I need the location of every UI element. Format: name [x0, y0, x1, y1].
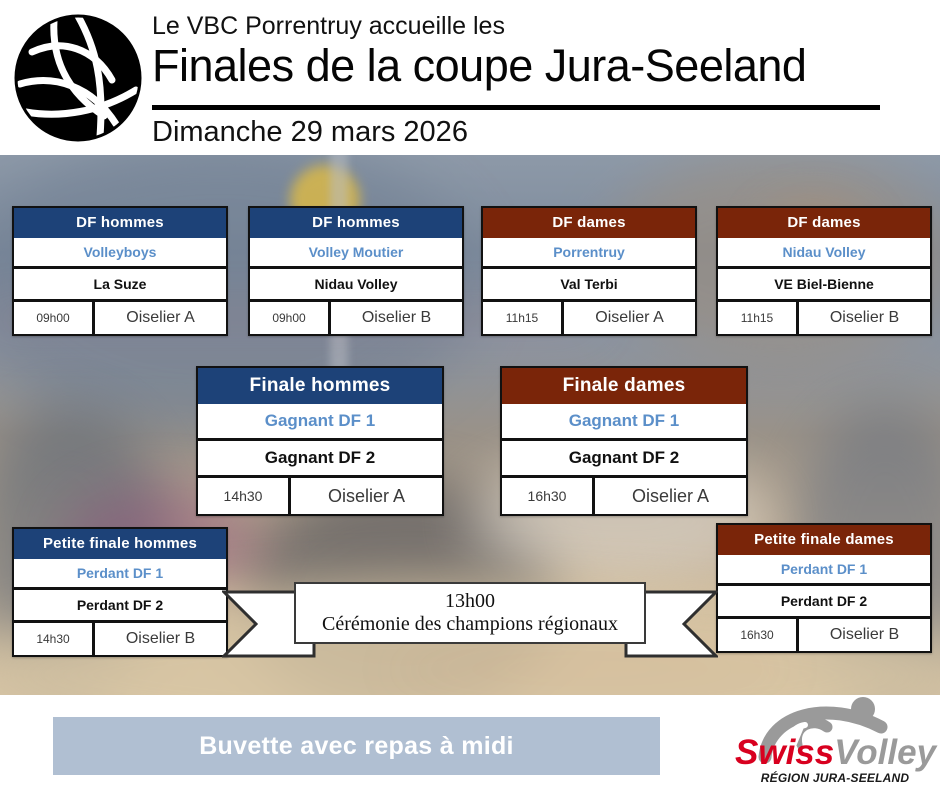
match-time: 09h00	[250, 302, 331, 334]
match-card-df-dames-1[interactable]: DF dames Porrentruy Val Terbi 11h15 Oise…	[481, 206, 697, 336]
match-team-b: Val Terbi	[483, 269, 695, 302]
match-court: Oiselier B	[799, 619, 930, 651]
match-time: 16h30	[502, 478, 595, 514]
match-team-a: Volley Moutier	[250, 238, 462, 269]
match-card-df-hommes-2[interactable]: DF hommes Volley Moutier Nidau Volley 09…	[248, 206, 464, 336]
match-time: 11h15	[718, 302, 799, 334]
poster-header: Le VBC Porrentruy accueille les Finales …	[0, 0, 940, 155]
ceremony-box: 13h00 Cérémonie des champions régionaux	[294, 582, 646, 644]
match-category: Finale dames	[502, 368, 746, 404]
match-card-df-dames-2[interactable]: DF dames Nidau Volley VE Biel-Bienne 11h…	[716, 206, 932, 336]
match-court: Oiselier B	[95, 623, 226, 655]
match-team-a: Porrentruy	[483, 238, 695, 269]
match-team-b: Perdant DF 2	[718, 586, 930, 619]
match-footer: 09h00 Oiselier A	[14, 302, 226, 334]
match-card-finale-dames[interactable]: Finale dames Gagnant DF 1 Gagnant DF 2 1…	[500, 366, 748, 516]
match-category: DF hommes	[14, 208, 226, 238]
buvette-banner: Buvette avec repas à midi	[53, 717, 660, 775]
match-team-a: Gagnant DF 1	[198, 404, 442, 441]
match-team-a: Nidau Volley	[718, 238, 930, 269]
ceremony-time: 13h00	[445, 590, 495, 612]
match-time: 14h30	[198, 478, 291, 514]
match-court: Oiselier A	[291, 478, 442, 514]
ceremony-label: Cérémonie des champions régionaux	[322, 612, 618, 636]
match-team-a: Volleyboys	[14, 238, 226, 269]
match-team-b: Gagnant DF 2	[502, 441, 746, 478]
match-footer: 14h30 Oiselier B	[14, 623, 226, 655]
match-team-b: Perdant DF 2	[14, 590, 226, 623]
header-kicker: Le VBC Porrentruy accueille les	[152, 12, 505, 41]
header-text-block: Le VBC Porrentruy accueille les Finales …	[152, 0, 932, 155]
match-time: 11h15	[483, 302, 564, 334]
match-footer: 09h00 Oiselier B	[250, 302, 462, 334]
match-time: 09h00	[14, 302, 95, 334]
swissvolley-volley-text: Volley	[834, 733, 936, 772]
match-card-df-hommes-1[interactable]: DF hommes Volleyboys La Suze 09h00 Oisel…	[12, 206, 228, 336]
match-team-b: Nidau Volley	[250, 269, 462, 302]
match-category: Petite finale hommes	[14, 529, 226, 559]
match-card-petite-finale-hommes[interactable]: Petite finale hommes Perdant DF 1 Perdan…	[12, 527, 228, 657]
match-card-petite-finale-dames[interactable]: Petite finale dames Perdant DF 1 Perdant…	[716, 523, 932, 653]
match-category: DF dames	[718, 208, 930, 238]
match-court: Oiselier A	[595, 478, 746, 514]
header-date: Dimanche 29 mars 2026	[152, 116, 468, 149]
swissvolley-swiss-text: Swiss	[735, 733, 834, 772]
poster-footer: Buvette avec repas à midi SwissVolley RÉ…	[0, 695, 940, 788]
photo-blob-floor-line	[380, 665, 800, 673]
match-footer: 16h30 Oiselier A	[502, 478, 746, 514]
match-court: Oiselier B	[331, 302, 462, 334]
match-time: 16h30	[718, 619, 799, 651]
match-court: Oiselier A	[564, 302, 695, 334]
match-footer: 11h15 Oiselier A	[483, 302, 695, 334]
match-footer: 14h30 Oiselier A	[198, 478, 442, 514]
buvette-label: Buvette avec repas à midi	[199, 732, 514, 761]
match-court: Oiselier A	[95, 302, 226, 334]
match-team-b: VE Biel-Bienne	[718, 269, 930, 302]
header-divider	[152, 105, 880, 110]
match-category: Petite finale dames	[718, 525, 930, 555]
match-court: Oiselier B	[799, 302, 930, 334]
match-team-a: Gagnant DF 1	[502, 404, 746, 441]
ceremony-ribbon: 13h00 Cérémonie des champions régionaux	[222, 578, 718, 660]
match-category: DF dames	[483, 208, 695, 238]
poster-root: Le VBC Porrentruy accueille les Finales …	[0, 0, 940, 788]
match-team-b: Gagnant DF 2	[198, 441, 442, 478]
swissvolley-wordmark: SwissVolley	[735, 735, 935, 770]
page-title: Finales de la coupe Jura-Seeland	[152, 40, 806, 92]
volleyball-icon	[8, 8, 148, 148]
swissvolley-logo: SwissVolley RÉGION JURA-SEELAND	[735, 697, 935, 787]
swissvolley-region-text: RÉGION JURA-SEELAND	[735, 771, 935, 785]
match-category: Finale hommes	[198, 368, 442, 404]
match-footer: 16h30 Oiselier B	[718, 619, 930, 651]
match-card-finale-hommes[interactable]: Finale hommes Gagnant DF 1 Gagnant DF 2 …	[196, 366, 444, 516]
match-team-b: La Suze	[14, 269, 226, 302]
match-team-a: Perdant DF 1	[718, 555, 930, 586]
match-team-a: Perdant DF 1	[14, 559, 226, 590]
match-footer: 11h15 Oiselier B	[718, 302, 930, 334]
match-category: DF hommes	[250, 208, 462, 238]
match-time: 14h30	[14, 623, 95, 655]
